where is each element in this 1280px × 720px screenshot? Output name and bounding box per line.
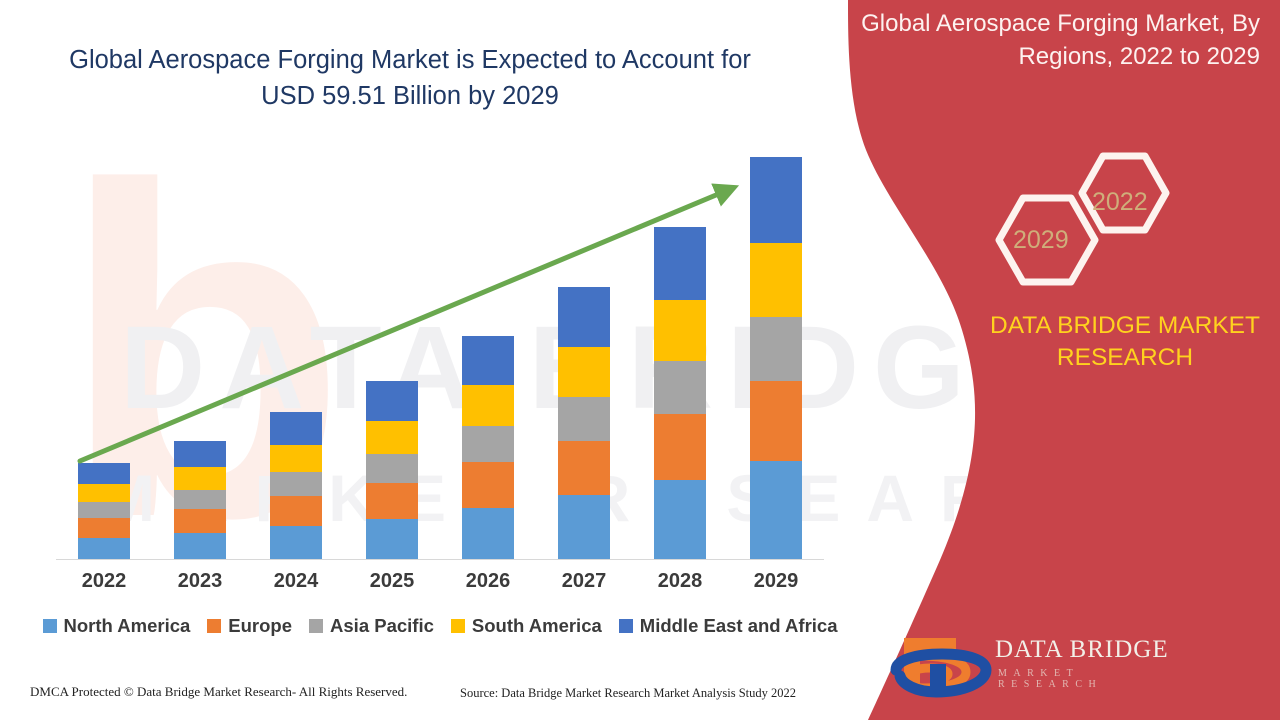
- panel-title: Global Aerospace Forging Market, By Regi…: [840, 8, 1260, 73]
- bar-segment[interactable]: [78, 518, 130, 538]
- logo-subtitle: MARKET RESEARCH: [998, 668, 1190, 690]
- logo-mark-icon: [890, 630, 1000, 698]
- bar-segment[interactable]: [366, 519, 418, 559]
- bar-segment[interactable]: [654, 414, 706, 480]
- bar-segment[interactable]: [366, 421, 418, 454]
- bar-column[interactable]: [344, 150, 440, 559]
- bar-segment[interactable]: [558, 397, 610, 441]
- bar-segment[interactable]: [750, 461, 802, 559]
- bar-segment[interactable]: [174, 441, 226, 467]
- bar-segment[interactable]: [750, 381, 802, 461]
- bar-segment[interactable]: [174, 490, 226, 509]
- hexagon-badges: 2022 2029: [985, 150, 1205, 290]
- bar-segment[interactable]: [558, 495, 610, 559]
- bar-column[interactable]: [56, 150, 152, 559]
- legend-swatch-icon: [451, 619, 465, 633]
- bar-stack-2025[interactable]: [366, 381, 418, 559]
- bar-segment[interactable]: [78, 484, 130, 502]
- bar-segment[interactable]: [78, 538, 130, 559]
- bar-segment[interactable]: [558, 347, 610, 397]
- bar-segment[interactable]: [270, 412, 322, 445]
- bar-segment[interactable]: [174, 467, 226, 489]
- bar-segment[interactable]: [462, 426, 514, 462]
- bar-segment[interactable]: [174, 509, 226, 533]
- bar-segment[interactable]: [462, 462, 514, 507]
- bar-segment[interactable]: [750, 243, 802, 317]
- legend-swatch-icon: [309, 619, 323, 633]
- x-axis-label-2026: 2026: [440, 570, 536, 593]
- bar-segment[interactable]: [654, 300, 706, 361]
- bar-segment[interactable]: [270, 472, 322, 496]
- bar-segment[interactable]: [270, 445, 322, 472]
- bar-segment[interactable]: [462, 385, 514, 426]
- legend-item[interactable]: Middle East and Africa: [619, 615, 838, 637]
- legend-swatch-icon: [619, 619, 633, 633]
- bar-segment[interactable]: [270, 496, 322, 526]
- bar-column[interactable]: [248, 150, 344, 559]
- x-axis-label-2028: 2028: [632, 570, 728, 593]
- bar-segment[interactable]: [366, 381, 418, 421]
- bar-segment[interactable]: [462, 336, 514, 385]
- chart-plot-area: [56, 150, 824, 560]
- bar-segment[interactable]: [78, 463, 130, 484]
- footer-source: Source: Data Bridge Market Research Mark…: [460, 686, 796, 701]
- legend-label: Europe: [228, 615, 292, 637]
- legend-swatch-icon: [43, 619, 57, 633]
- chart-title: Global Aerospace Forging Market is Expec…: [40, 42, 780, 114]
- logo-name: DATA BRIDGE: [995, 636, 1169, 664]
- x-axis-line: [56, 559, 824, 560]
- bar-segment[interactable]: [270, 526, 322, 559]
- legend-label: North America: [64, 615, 191, 637]
- bar-stack-2024[interactable]: [270, 412, 322, 559]
- chart-legend: North AmericaEuropeAsia PacificSouth Ame…: [50, 615, 830, 637]
- x-axis-labels: 20222023202420252026202720282029: [56, 570, 824, 593]
- bar-column[interactable]: [632, 150, 728, 559]
- legend-item[interactable]: Asia Pacific: [309, 615, 434, 637]
- hexagon-2022-label: 2022: [1092, 188, 1148, 217]
- bar-stack-2026[interactable]: [462, 336, 514, 559]
- brand-name: DATA BRIDGE MARKET RESEARCH: [965, 310, 1280, 374]
- bar-segment[interactable]: [558, 441, 610, 495]
- bar-stack-2028[interactable]: [654, 227, 706, 559]
- bar-segment[interactable]: [750, 157, 802, 243]
- bar-column[interactable]: [728, 150, 824, 559]
- bar-segment[interactable]: [366, 483, 418, 519]
- bar-stack-2029[interactable]: [750, 157, 802, 559]
- x-axis-label-2024: 2024: [248, 570, 344, 593]
- x-axis-label-2025: 2025: [344, 570, 440, 593]
- bar-segment[interactable]: [78, 502, 130, 518]
- footer-copyright: DMCA Protected © Data Bridge Market Rese…: [30, 684, 407, 700]
- bar-segment[interactable]: [750, 317, 802, 382]
- legend-label: Asia Pacific: [330, 615, 434, 637]
- bar-segment[interactable]: [654, 227, 706, 299]
- hexagon-2029-label: 2029: [1013, 226, 1069, 255]
- bar-segment[interactable]: [462, 508, 514, 559]
- x-axis-label-2023: 2023: [152, 570, 248, 593]
- data-bridge-logo: DATA BRIDGE MARKET RESEARCH: [890, 630, 1190, 700]
- bar-segment[interactable]: [558, 287, 610, 347]
- bar-column[interactable]: [152, 150, 248, 559]
- x-axis-label-2027: 2027: [536, 570, 632, 593]
- bar-column[interactable]: [536, 150, 632, 559]
- bar-stack-2023[interactable]: [174, 441, 226, 559]
- bar-stack-2027[interactable]: [558, 287, 610, 559]
- bar-stack-group: [56, 150, 824, 559]
- legend-swatch-icon: [207, 619, 221, 633]
- bar-stack-2022[interactable]: [78, 463, 130, 559]
- bar-segment[interactable]: [366, 454, 418, 483]
- legend-label: South America: [472, 615, 602, 637]
- x-axis-label-2022: 2022: [56, 570, 152, 593]
- legend-item[interactable]: North America: [43, 615, 191, 637]
- bar-segment[interactable]: [174, 533, 226, 559]
- legend-item[interactable]: South America: [451, 615, 602, 637]
- legend-label: Middle East and Africa: [640, 615, 838, 637]
- bar-segment[interactable]: [654, 480, 706, 559]
- infographic-page: b DATA BRIDGE MARKET RESEARCH Global Aer…: [0, 0, 1280, 720]
- x-axis-label-2029: 2029: [728, 570, 824, 593]
- bar-segment[interactable]: [654, 361, 706, 415]
- legend-item[interactable]: Europe: [207, 615, 292, 637]
- bar-column[interactable]: [440, 150, 536, 559]
